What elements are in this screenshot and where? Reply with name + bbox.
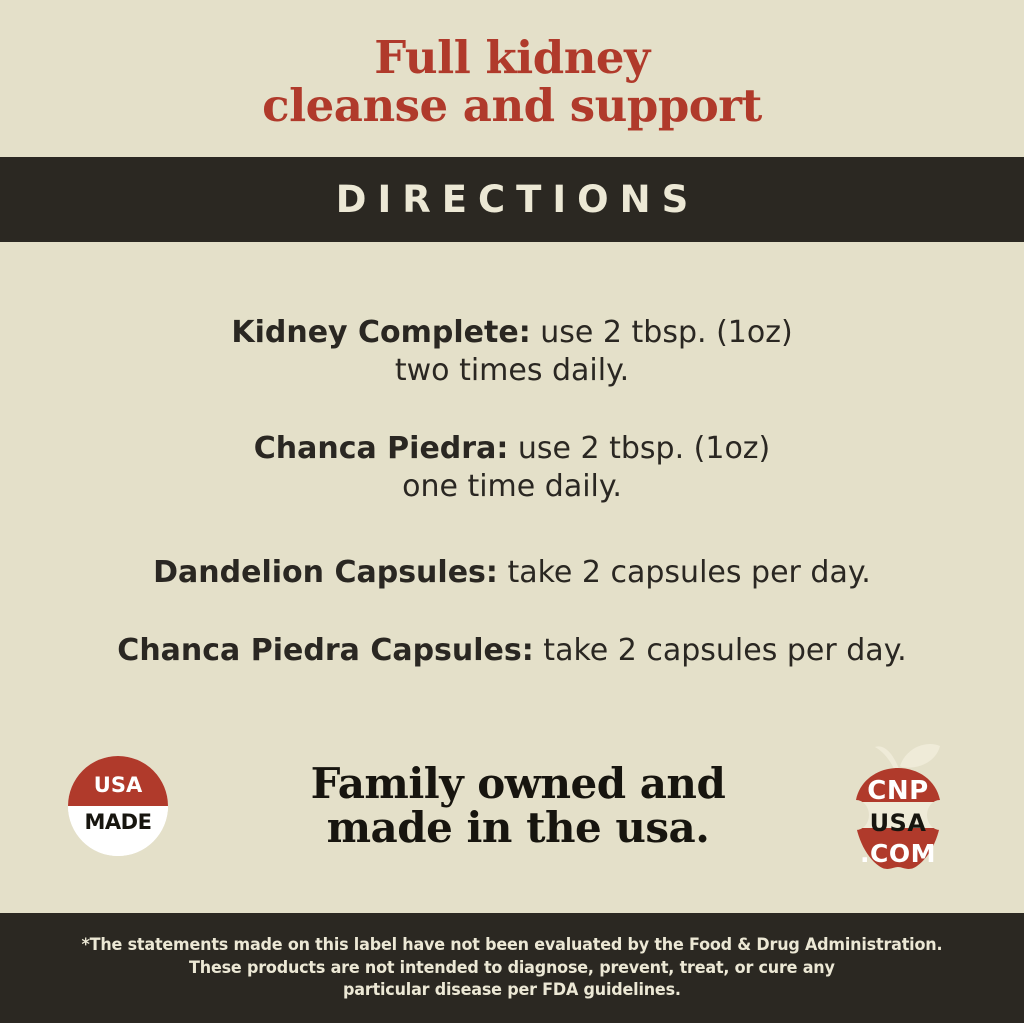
fda-disclaimer-text: *The statements made on this label have … [63,934,961,1003]
direction-line-primary: Kidney Complete: use 2 tbsp. (1oz) [231,314,792,352]
headline-line-1: Full kidney [262,34,762,81]
direction-line-secondary: one time daily. [254,468,771,506]
fda-disclaimer-line-1: *The statements made on this label have … [82,934,943,957]
directions-banner: DIRECTIONS [0,157,1024,242]
apple-logo-line-3: .COM [834,839,962,868]
headline-section: Full kidney cleanse and support [0,0,1024,157]
direction-item-dandelion-capsules: Dandelion Capsules: take 2 capsules per … [153,554,871,592]
family-owned-line-2: made in the usa. [311,806,726,850]
direction-product-name: Chanca Piedra Capsules: [117,633,533,668]
fda-disclaimer-bar: *The statements made on this label have … [0,913,1024,1023]
family-owned-line-1: Family owned and [311,762,726,806]
family-owned-tagline: Family owned and made in the usa. [311,762,726,850]
direction-dosage: take 2 capsules per day. [534,633,907,668]
usa-made-badge-bottom-label: MADE [85,810,152,834]
direction-product-name: Dandelion Capsules: [153,555,498,590]
page-title: Full kidney cleanse and support [262,34,762,129]
fda-disclaimer-line-3: particular disease per FDA guidelines. [82,979,943,1002]
usa-made-badge-top-label: USA [94,773,142,797]
usa-made-badge-icon: USA MADE [68,756,168,856]
apple-logo-line-2: USA [834,809,962,837]
direction-item-chanca-piedra-capsules: Chanca Piedra Capsules: take 2 capsules … [117,632,906,670]
usa-made-badge-bottom: MADE [68,806,168,856]
direction-dosage: use 2 tbsp. (1oz) [531,315,793,350]
directions-list: Kidney Complete: use 2 tbsp. (1oz) two t… [0,242,1024,713]
product-label-panel: Full kidney cleanse and support DIRECTIO… [0,0,1024,1023]
direction-line-primary: Chanca Piedra: use 2 tbsp. (1oz) [254,430,771,468]
direction-dosage: take 2 capsules per day. [498,555,871,590]
banner-title: DIRECTIONS [325,178,699,221]
usa-made-badge-top: USA [68,756,168,806]
direction-line-primary: Dandelion Capsules: take 2 capsules per … [153,554,871,592]
apple-logo-line-1: CNP [834,776,962,806]
brand-row: USA MADE Family owned and made in the us… [0,713,1024,913]
direction-line-primary: Chanca Piedra Capsules: take 2 capsules … [117,632,906,670]
fda-disclaimer-line-2: These products are not intended to diagn… [82,957,943,980]
direction-product-name: Kidney Complete: [231,315,530,350]
direction-item-kidney-complete: Kidney Complete: use 2 tbsp. (1oz) two t… [231,314,792,391]
direction-product-name: Chanca Piedra: [254,431,509,466]
direction-line-secondary: two times daily. [231,352,792,390]
headline-line-2: cleanse and support [262,82,762,129]
cnp-usa-apple-logo-icon: CNP USA .COM [834,736,962,876]
direction-item-chanca-piedra: Chanca Piedra: use 2 tbsp. (1oz) one tim… [254,430,771,507]
direction-dosage: use 2 tbsp. (1oz) [508,431,770,466]
